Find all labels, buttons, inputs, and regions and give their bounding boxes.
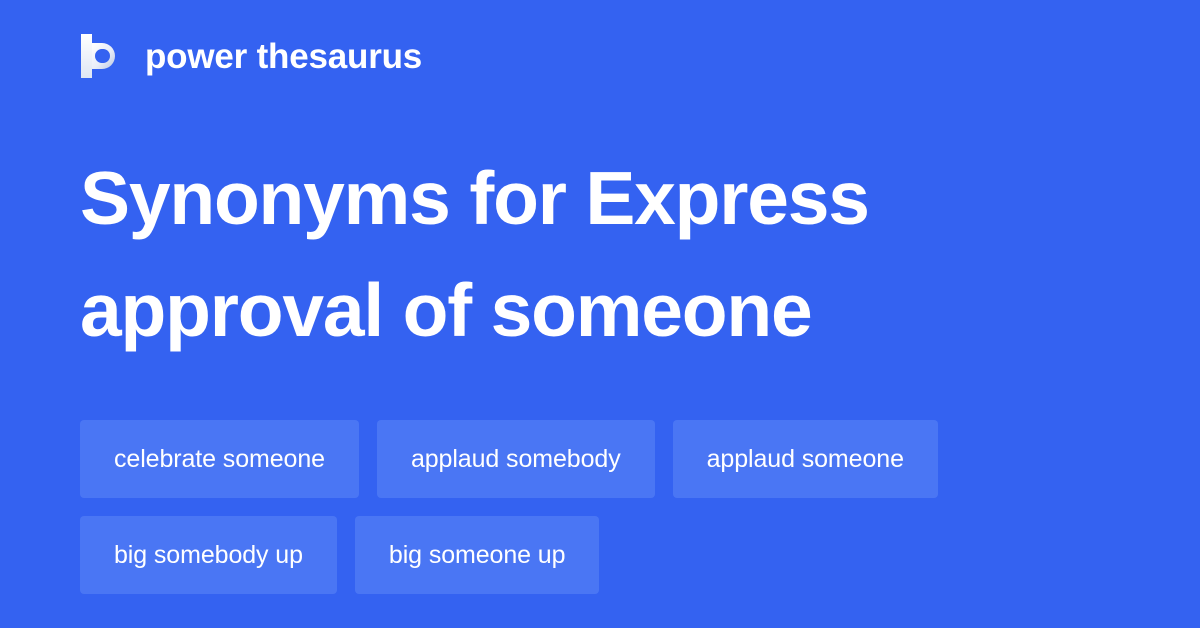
synonym-chip[interactable]: big someone up [355,516,600,594]
synonym-chip-list: celebrate someone applaud somebody appla… [80,420,1140,594]
page-title-line-2: approval of someone [80,254,1080,366]
synonym-chip[interactable]: applaud somebody [377,420,655,498]
brand-header[interactable]: power thesaurus [80,30,422,82]
share-card: power thesaurus Synonyms for Express app… [0,0,1200,628]
power-thesaurus-b-logo-icon [80,33,124,79]
synonym-chip[interactable]: big somebody up [80,516,337,594]
synonym-chip[interactable]: applaud someone [673,420,938,498]
synonym-chip[interactable]: celebrate someone [80,420,359,498]
page-title: Synonyms for Express approval of someone [80,142,1080,366]
page-title-line-1: Synonyms for Express [80,142,1080,254]
brand-name: power thesaurus [145,39,422,74]
